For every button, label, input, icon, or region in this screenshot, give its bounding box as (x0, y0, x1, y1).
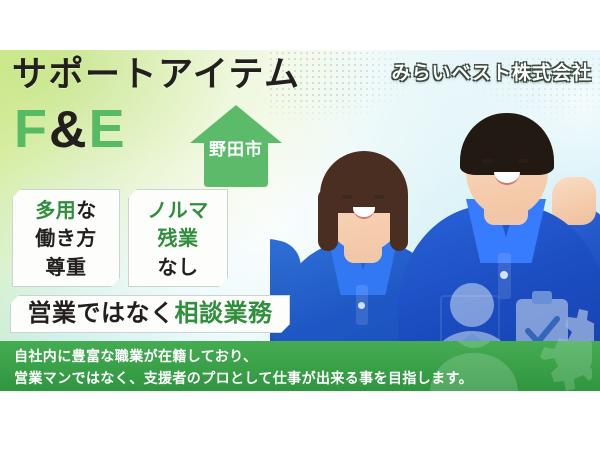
bottom-white-margin (0, 391, 600, 450)
bottom-message-banner: 自社内に豊富な職業が在籍しており、 営業マンではなく、支援者のプロとして仕事が出… (0, 341, 600, 391)
female-staff-hair (320, 151, 408, 213)
feature-text-green: 多用 (35, 200, 76, 222)
feature-line: なし (129, 254, 227, 282)
feature-line: 多用な (13, 197, 119, 225)
fe-logo-ampersand: & (49, 101, 89, 159)
feature-text-green: ノルマ (147, 200, 209, 222)
feature-text-dark: な (76, 200, 97, 222)
house-city-label: 野田市 (188, 141, 284, 158)
female-staff-eye-left (342, 195, 352, 199)
company-name: みらいベスト株式会社 (392, 58, 592, 85)
bottom-message-line-1: 自社内に豊富な職業が在籍しており、 (14, 345, 473, 367)
feature-box-consultation-not-sales: 営業ではなく相談業務 (10, 295, 290, 333)
feature-line: 営業ではなく相談業務 (28, 302, 273, 326)
page-title: サポートアイテム (12, 57, 301, 92)
male-staff-button (500, 271, 508, 279)
feature-text-dark: なし (158, 257, 199, 279)
feature-text-dark: 働き方 (35, 228, 97, 250)
fe-logo-letter-f: F (14, 99, 49, 159)
feature-text-green: 残業 (158, 228, 199, 250)
banner-artwork: サポートアイテム F&E 野田市 多用な 働き方 尊重 ノルマ 残業 なし 営業… (0, 50, 600, 391)
recruitment-banner: サポートアイテム F&E 野田市 多用な 働き方 尊重 ノルマ 残業 なし 営業… (0, 0, 600, 450)
feature-text-dark: 営業ではなく (28, 300, 175, 327)
feature-box-diverse-work-styles: 多用な 働き方 尊重 (12, 189, 120, 287)
feature-text-green: 相談業務 (175, 300, 273, 327)
two-staff-members-photo (270, 50, 600, 391)
fe-logo-letter-e: E (89, 99, 127, 159)
female-staff-button (358, 302, 365, 309)
feature-line: 残業 (129, 225, 227, 253)
house-icon: 野田市 (188, 103, 284, 187)
feature-line: 働き方 (13, 225, 119, 253)
male-staff-hair (460, 113, 554, 175)
bottom-message-line-2: 営業マンではなく、支援者のプロとして仕事が出来る事を目指します。 (14, 367, 473, 389)
male-staff-eye-right (518, 159, 529, 163)
feature-line: ノルマ (129, 197, 227, 225)
bottom-message-text: 自社内に豊富な職業が在籍しており、 営業マンではなく、支援者のプロとして仕事が出… (14, 345, 473, 389)
gear-icon (540, 341, 592, 391)
male-staff-eye-left (482, 159, 493, 163)
female-staff-eye-right (374, 195, 384, 199)
feature-box-no-quota-no-overtime: ノルマ 残業 なし (128, 189, 228, 287)
feature-line: 尊重 (13, 254, 119, 282)
top-white-margin (0, 0, 600, 50)
male-staff-pocket (440, 295, 500, 347)
feature-text-dark: 尊重 (46, 257, 87, 279)
fe-logo: F&E (14, 102, 127, 156)
